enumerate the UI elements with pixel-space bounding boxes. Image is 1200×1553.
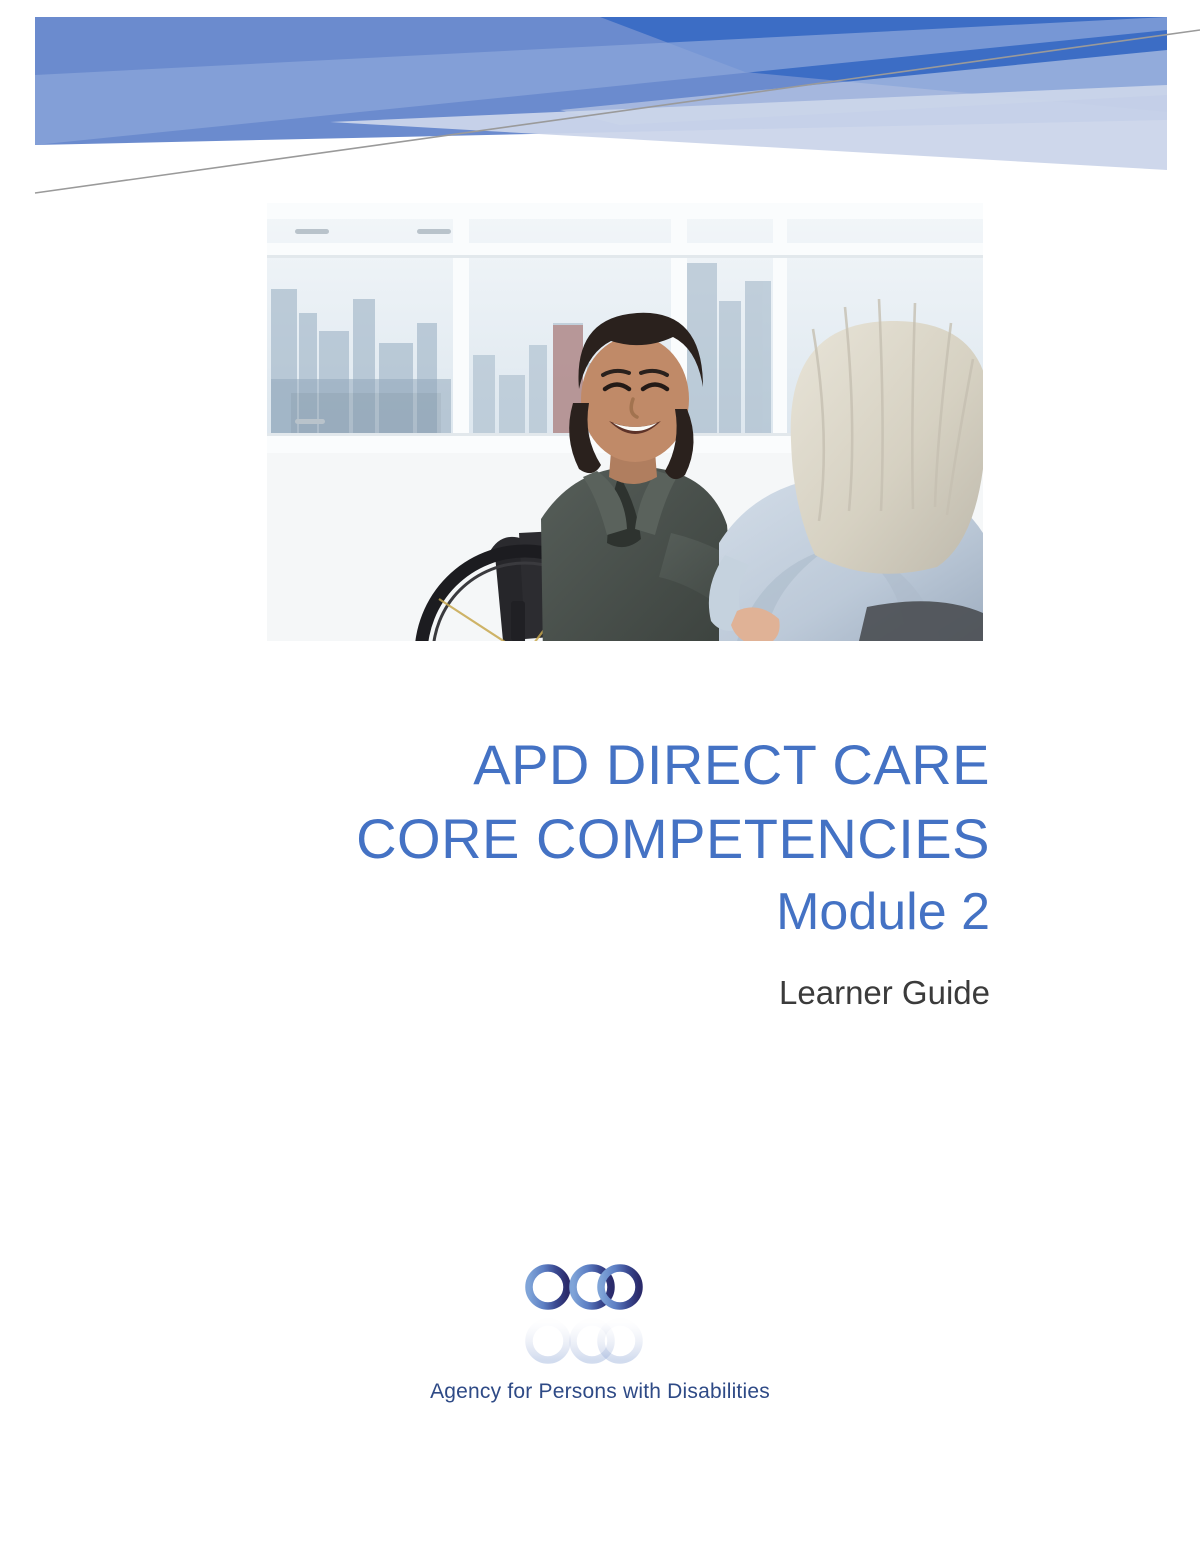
apd-logotype (529, 1256, 639, 1320)
apd-logo (0, 1238, 1200, 1373)
decorative-banner (0, 0, 1200, 210)
title-line-1: APD DIRECT CARE (120, 728, 990, 802)
title-subtitle: Learner Guide (120, 972, 990, 1014)
title-module: Module 2 (120, 876, 990, 948)
title-block: APD DIRECT CARE CORE COMPETENCIES Module… (120, 728, 990, 1014)
apd-logo-reflection (529, 1308, 639, 1368)
cover-photo (267, 203, 983, 641)
organization-name: Agency for Persons with Disabilities (0, 1378, 1200, 1406)
title-line-2: CORE COMPETENCIES (120, 802, 990, 876)
cover-page: APD DIRECT CARE CORE COMPETENCIES Module… (0, 0, 1200, 1553)
